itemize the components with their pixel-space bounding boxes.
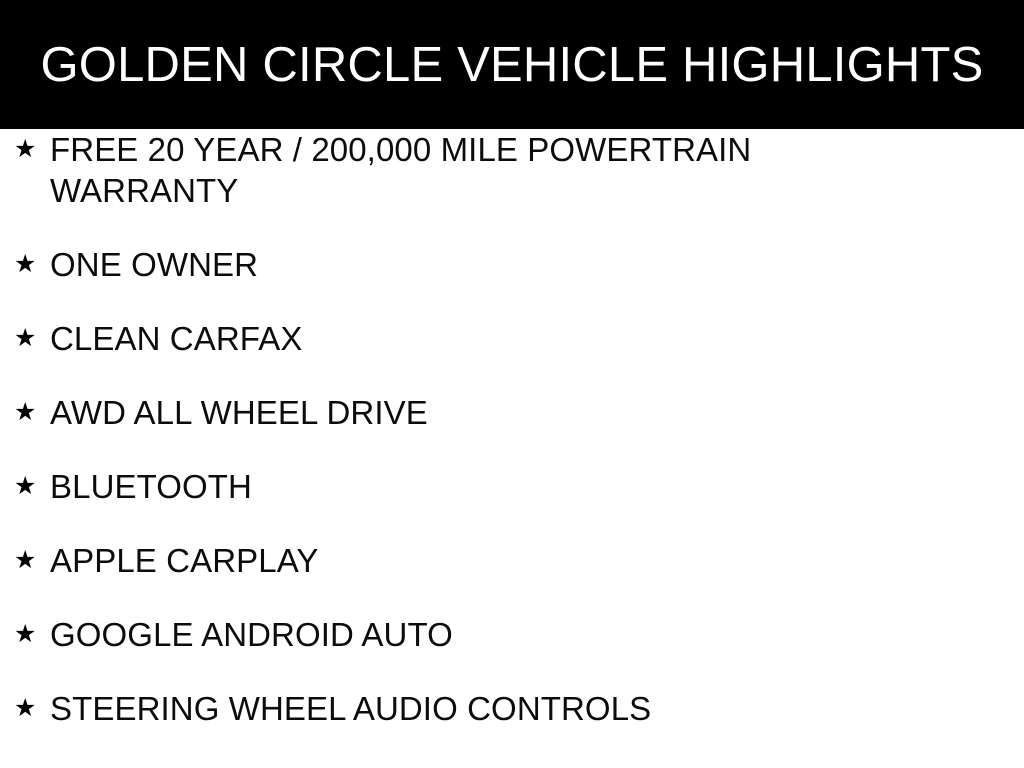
list-item: ★ GOOGLE ANDROID AUTO (0, 614, 1024, 688)
list-item: ★ ONE OWNER (0, 244, 1024, 318)
header-bar: GOLDEN CIRCLE VEHICLE HIGHLIGHTS (0, 0, 1024, 129)
star-icon: ★ (14, 540, 40, 581)
page-title: GOLDEN CIRCLE VEHICLE HIGHLIGHTS (40, 41, 983, 90)
list-item: ★ BLUETOOTH (0, 466, 1024, 540)
star-icon: ★ (14, 318, 40, 359)
star-icon: ★ (14, 466, 40, 507)
star-icon: ★ (14, 614, 40, 655)
list-item-label: ONE OWNER (50, 244, 1010, 285)
list-item-label: GOOGLE ANDROID AUTO (50, 614, 1010, 655)
list-item-label: CLEAN CARFAX (50, 318, 1010, 359)
star-icon: ★ (14, 392, 40, 433)
list-item-label: FREE 20 YEAR / 200,000 MILE POWERTRAIN W… (50, 129, 850, 211)
vehicle-highlights-page: GOLDEN CIRCLE VEHICLE HIGHLIGHTS ★ FREE … (0, 0, 1024, 768)
star-icon: ★ (14, 244, 40, 285)
star-icon: ★ (14, 688, 40, 729)
list-item: ★ FREE 20 YEAR / 200,000 MILE POWERTRAIN… (0, 129, 1024, 244)
list-item: ★ STEERING WHEEL AUDIO CONTROLS (0, 688, 1024, 762)
star-icon: ★ (14, 129, 40, 170)
list-item-label: STEERING WHEEL AUDIO CONTROLS (50, 688, 1010, 729)
list-item: ★ AWD ALL WHEEL DRIVE (0, 392, 1024, 466)
list-item-label: APPLE CARPLAY (50, 540, 1010, 581)
list-item: ★ CLEAN CARFAX (0, 318, 1024, 392)
list-item: ★ APPLE CARPLAY (0, 540, 1024, 614)
list-item-label: BLUETOOTH (50, 466, 1010, 507)
highlights-list: ★ FREE 20 YEAR / 200,000 MILE POWERTRAIN… (0, 129, 1024, 762)
list-item-label: AWD ALL WHEEL DRIVE (50, 392, 1010, 433)
